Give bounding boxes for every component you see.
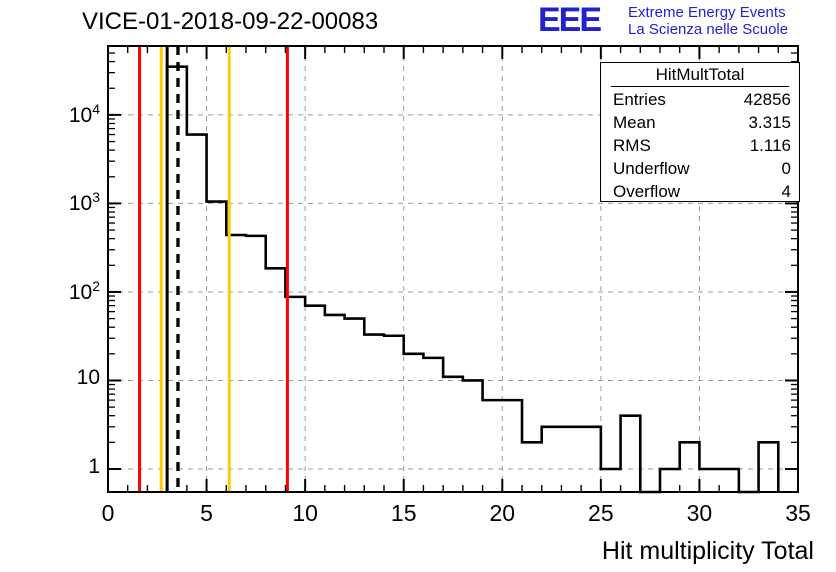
stats-row-value: 1.116: [750, 134, 791, 157]
x-tick-label: 15: [374, 500, 434, 527]
x-tick-label: 10: [275, 500, 335, 527]
y-tick-label: 104: [16, 101, 100, 128]
stats-row: Entries42856: [601, 88, 799, 111]
x-tick-label: 20: [472, 500, 532, 527]
x-tick-label: 30: [669, 500, 729, 527]
y-tick-label: 102: [16, 278, 100, 305]
stats-row-label: Overflow: [613, 180, 680, 203]
stats-row-label: Underflow: [613, 157, 690, 180]
x-axis-title: Hit multiplicity Total: [602, 537, 814, 566]
y-tick-label: 1: [16, 455, 100, 479]
stats-row: Underflow0: [601, 157, 799, 180]
stats-rows: Entries42856Mean3.315RMS1.116Underflow0O…: [601, 88, 799, 203]
stats-row-value: 3.315: [748, 111, 791, 134]
stats-row-label: Entries: [613, 88, 666, 111]
root-canvas: VICE-01-2018-09-22-00083 EEE Extreme Ene…: [0, 0, 836, 572]
x-tick-label: 0: [78, 500, 138, 527]
stats-row-value: 42856: [744, 88, 791, 111]
stats-row: Overflow4: [601, 180, 799, 203]
stats-row-label: Mean: [613, 111, 656, 134]
stats-row: Mean3.315: [601, 111, 799, 134]
stats-row-value: 4: [782, 180, 791, 203]
x-tick-label: 25: [571, 500, 631, 527]
stats-row: RMS1.116: [601, 134, 799, 157]
y-tick-label: 103: [16, 189, 100, 216]
x-tick-label: 5: [177, 500, 237, 527]
x-tick-label: 35: [768, 500, 828, 527]
stats-title: HitMultTotal: [611, 63, 789, 87]
y-tick-label: 10: [16, 366, 100, 390]
stats-row-value: 0: [782, 157, 791, 180]
stats-box: HitMultTotal Entries42856Mean3.315RMS1.1…: [600, 62, 800, 202]
stats-row-label: RMS: [613, 134, 651, 157]
